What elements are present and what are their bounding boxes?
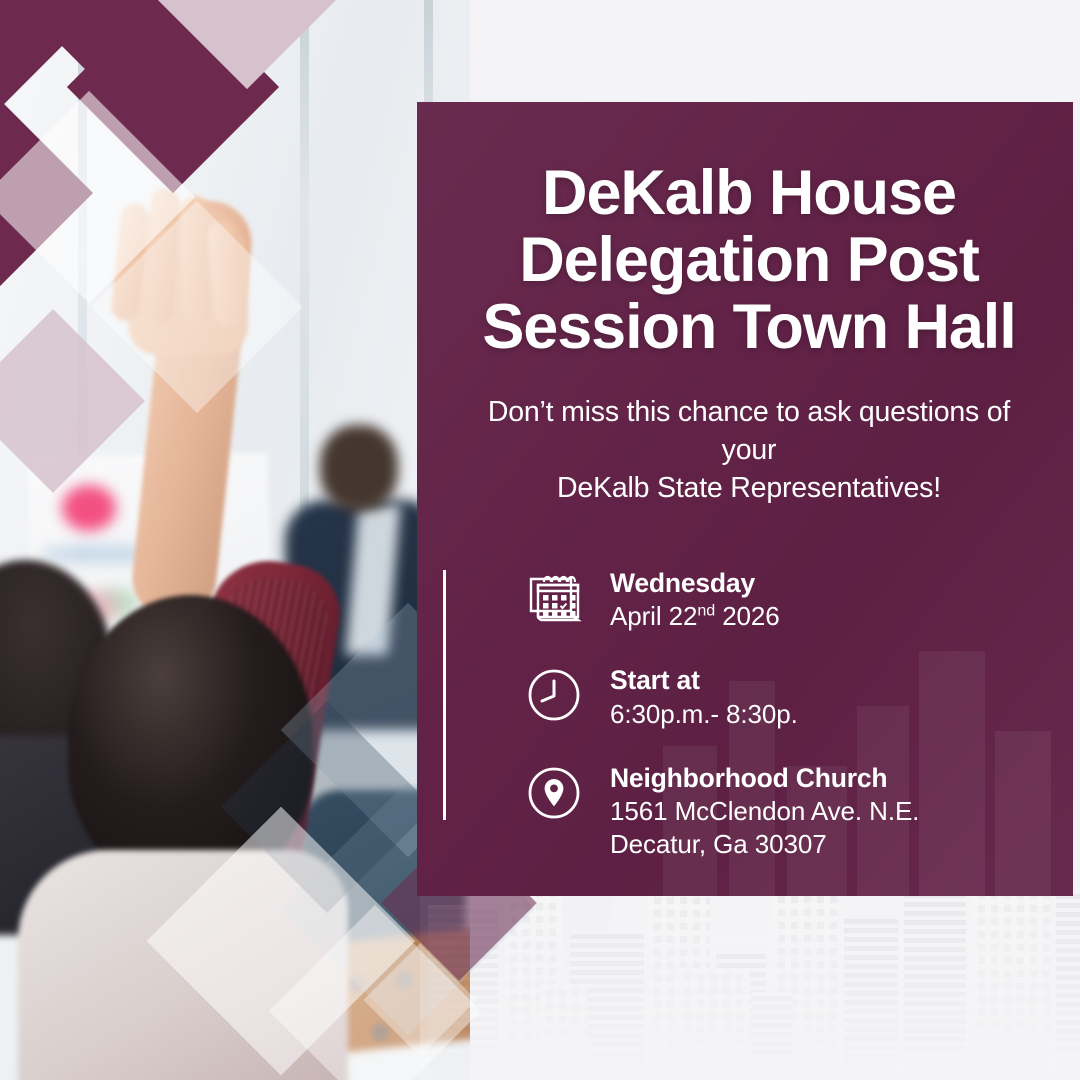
title-line-3: Session Town Hall	[451, 294, 1047, 361]
city-building	[752, 992, 792, 1080]
date-ordinal: nd	[697, 602, 715, 620]
subtitle: Don’t miss this chance to ask questions …	[465, 394, 1033, 508]
city-building	[678, 968, 750, 1080]
city-building	[904, 880, 966, 1080]
city-building	[844, 915, 898, 1080]
detail-text-time: Start at 6:30p.m.- 8:30p.	[610, 661, 798, 729]
title-line-2: Delegation Post	[451, 227, 1047, 294]
flyer-canvas: DeKalb House Delegation Post Session Tow…	[0, 0, 1080, 1080]
clock-icon	[520, 661, 588, 729]
city-building	[1056, 890, 1080, 1080]
calendar-icon	[520, 564, 588, 632]
window-mullion	[300, 0, 309, 520]
date-year: 2026	[715, 601, 780, 631]
date-value: April 22nd 2026	[610, 601, 780, 632]
detail-text-location: Neighborhood Church 1561 McClendon Ave. …	[610, 759, 919, 861]
city-building	[648, 865, 710, 1080]
time-heading: Start at	[610, 665, 798, 696]
venue-street: 1561 McClendon Ave. N.E.	[610, 796, 919, 827]
venue-city: Decatur, Ga 30307	[610, 829, 919, 860]
detail-row-date: Wednesday April 22nd 2026	[520, 564, 1055, 632]
event-details-list: Wednesday April 22nd 2026 Start at 6	[443, 564, 1055, 861]
chart-sticker	[62, 485, 116, 531]
speaker-head	[320, 425, 398, 511]
date-prefix: April 22	[610, 601, 697, 631]
title-line-1: DeKalb House	[451, 160, 1047, 227]
venue-name: Neighborhood Church	[610, 763, 919, 794]
city-building	[570, 930, 644, 1080]
detail-row-location: Neighborhood Church 1561 McClendon Ave. …	[520, 759, 1055, 861]
detail-text-date: Wednesday April 22nd 2026	[610, 564, 780, 632]
page-title: DeKalb House Delegation Post Session Tow…	[451, 160, 1047, 360]
subtitle-line-2: DeKalb State Representatives!	[465, 470, 1033, 508]
event-details-panel: DeKalb House Delegation Post Session Tow…	[417, 102, 1073, 896]
panel-content: DeKalb House Delegation Post Session Tow…	[417, 102, 1073, 861]
date-heading: Wednesday	[610, 568, 780, 599]
detail-row-time: Start at 6:30p.m.- 8:30p.	[520, 661, 1055, 729]
map-pin-icon	[520, 759, 588, 827]
city-building	[540, 984, 588, 1080]
time-value: 6:30p.m.- 8:30p.	[610, 699, 798, 730]
city-building	[716, 950, 766, 1080]
vertical-divider	[443, 570, 446, 820]
subtitle-line-1: Don’t miss this chance to ask questions …	[465, 394, 1033, 470]
